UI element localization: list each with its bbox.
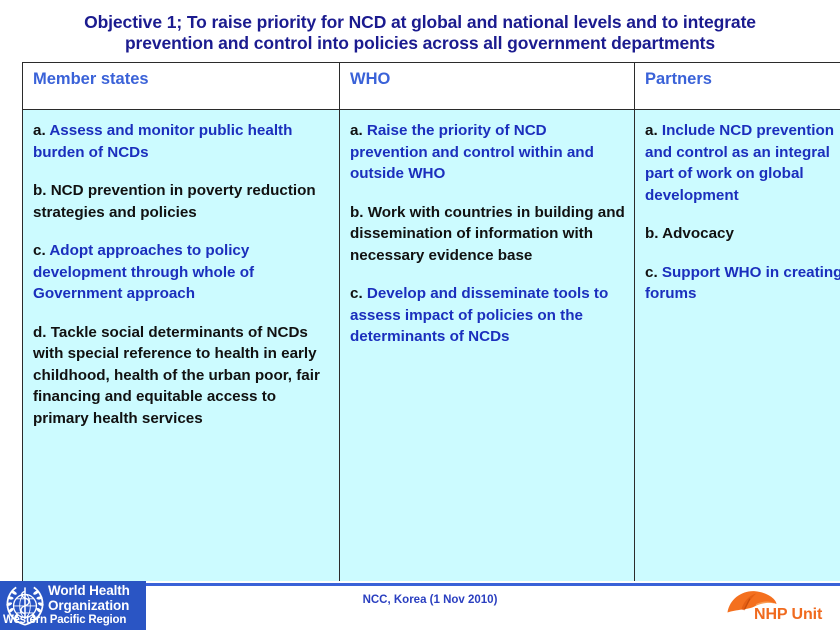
footer-center-text: NCC, Korea (1 Nov 2010) <box>300 594 560 606</box>
objectives-table: Member states WHO Partners a. Assess and… <box>22 62 840 601</box>
list-item-text: Develop and disseminate tools to assess … <box>350 285 608 345</box>
column-header-label: Partners <box>645 70 712 88</box>
list-item-marker: c. <box>350 285 367 302</box>
who-logo: World Health Organization Western Pacifi… <box>0 581 146 630</box>
list-item: a. Include NCD prevention and control as… <box>645 120 840 206</box>
list-item: a. Raise the priority of NCD prevention … <box>350 120 626 185</box>
list-item-marker: b. <box>645 225 662 242</box>
list-item: b. Advocacy <box>645 223 840 245</box>
cell-who: a. Raise the priority of NCD prevention … <box>340 110 635 601</box>
list-item-marker: c. <box>33 242 49 259</box>
column-header-who: WHO <box>340 63 635 110</box>
list-item-marker: a. <box>33 122 49 139</box>
list-item-text: Include NCD prevention and control as an… <box>645 122 834 204</box>
list-item: c. Support WHO in creating forums <box>645 262 840 305</box>
who-wordmark-line-1: World Health <box>48 583 130 598</box>
page-title-line-1: Objective 1; To raise priority for NCD a… <box>28 12 812 33</box>
column-header-member-states: Member states <box>23 63 340 110</box>
who-region-label: Western Pacific Region <box>3 614 126 626</box>
list-item-text: Work with countries in building and diss… <box>350 204 625 264</box>
list-item-marker: b. <box>33 182 51 199</box>
nhp-unit-label: NHP Unit <box>754 606 822 624</box>
list-item-text: Assess and monitor public health burden … <box>33 122 292 161</box>
page-title-line-2: prevention and control into policies acr… <box>28 33 812 54</box>
list-item-text: Raise the priority of NCD prevention and… <box>350 122 594 182</box>
list-item: d. Tackle social determinants of NCDs wi… <box>33 322 331 430</box>
list-item-marker: a. <box>645 122 662 139</box>
list-item: a. Assess and monitor public health burd… <box>33 120 331 163</box>
list-item: b. Work with countries in building and d… <box>350 202 626 267</box>
list-item-text: Advocacy <box>662 225 734 242</box>
list-item: c. Develop and disseminate tools to asse… <box>350 283 626 348</box>
who-wordmark: World Health Organization <box>48 583 130 613</box>
table-body-row: a. Assess and monitor public health burd… <box>23 110 840 601</box>
list-item-marker: d. <box>33 324 51 341</box>
list-item-text: Adopt approaches to policy development t… <box>33 242 254 302</box>
list-item-marker: a. <box>350 122 367 139</box>
list-item-text: NCD prevention in poverty reduction stra… <box>33 182 316 221</box>
column-header-label: Member states <box>33 70 149 88</box>
who-wordmark-line-2: Organization <box>48 598 130 613</box>
cell-member-states: a. Assess and monitor public health burd… <box>23 110 340 601</box>
column-header-label: WHO <box>350 70 390 88</box>
list-item-text: Tackle social determinants of NCDs with … <box>33 324 320 427</box>
column-header-partners: Partners <box>635 63 840 110</box>
list-item: c. Adopt approaches to policy developmen… <box>33 240 331 305</box>
nhp-unit-logo: NHP Unit <box>724 588 836 628</box>
table-header-row: Member states WHO Partners <box>23 63 840 110</box>
list-item: b. NCD prevention in poverty reduction s… <box>33 180 331 223</box>
list-item-marker: c. <box>645 264 662 281</box>
page-title: Objective 1; To raise priority for NCD a… <box>28 12 812 54</box>
list-item-marker: b. <box>350 204 368 221</box>
cell-partners: a. Include NCD prevention and control as… <box>635 110 840 601</box>
list-item-text: Support WHO in creating forums <box>645 264 840 303</box>
